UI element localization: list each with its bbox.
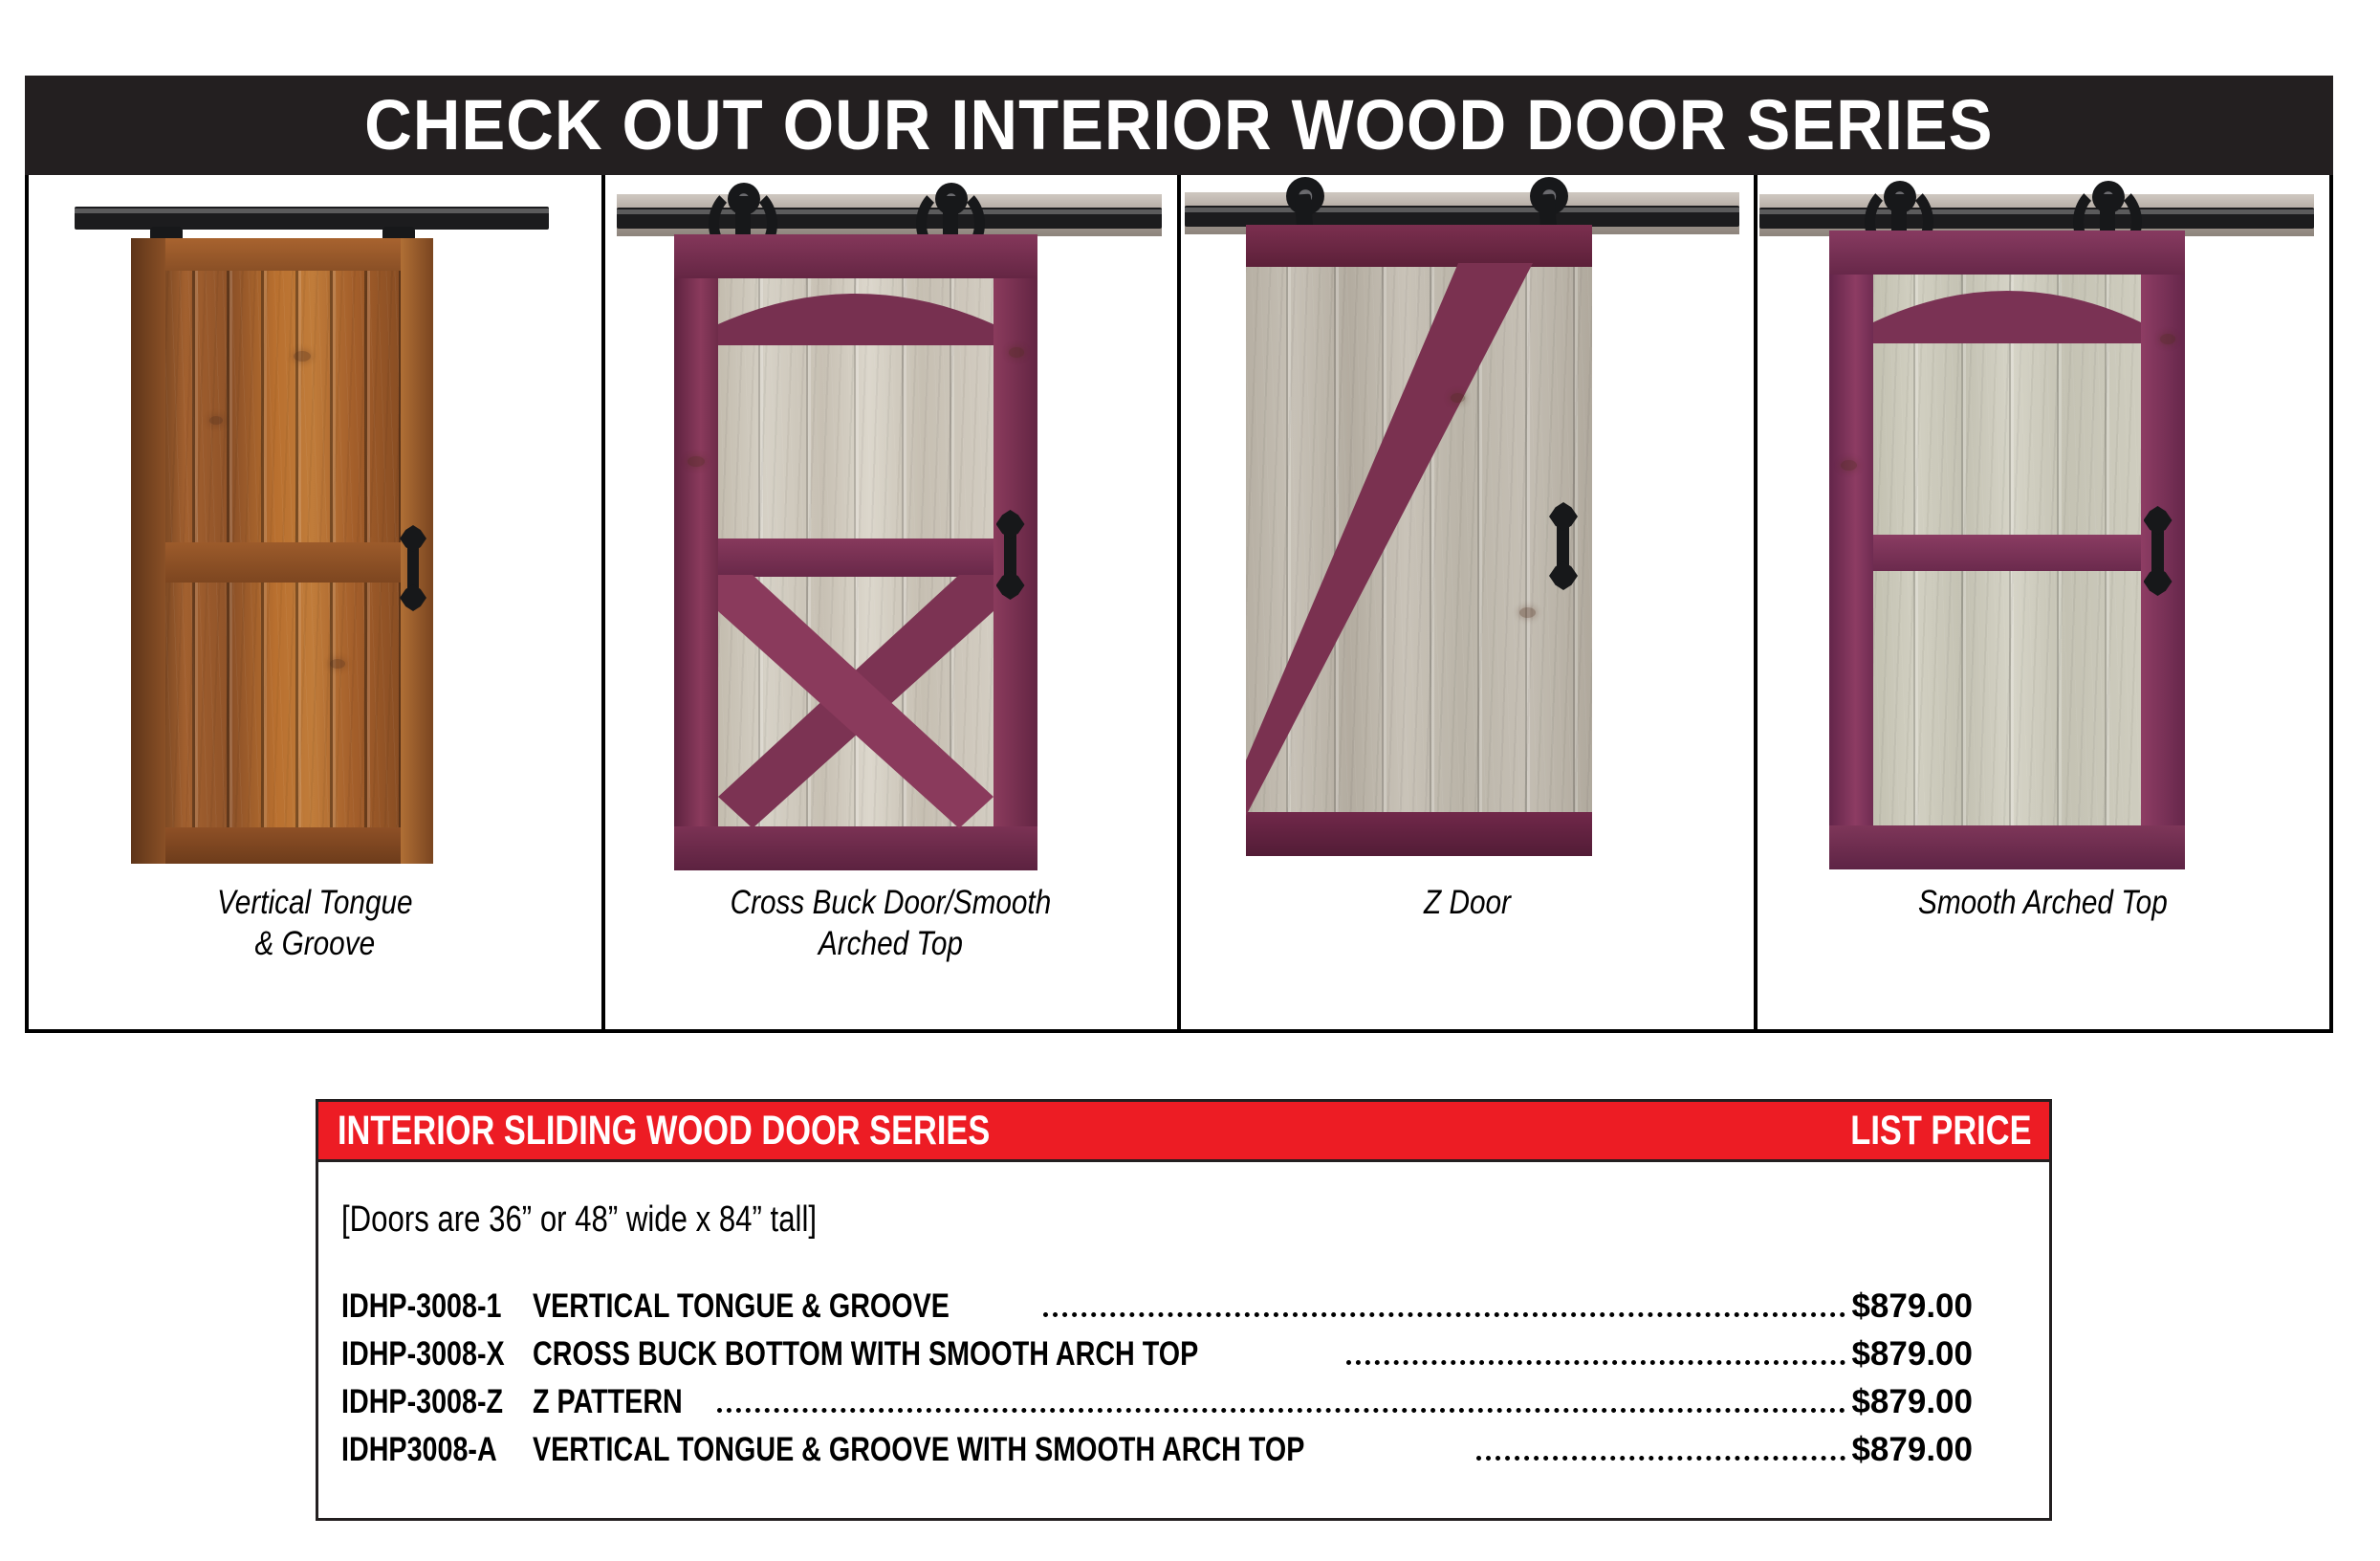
row-desc: CROSS BUCK BOTTOM WITH SMOOTH ARCH TOP: [533, 1330, 1198, 1378]
door-body-smooth-arched-top: [1829, 231, 2185, 869]
table-row[interactable]: IDHP-3008-1 VERTICAL TONGUE & GROOVE $87…: [341, 1283, 2049, 1330]
track-rail-icon: [617, 208, 1162, 229]
arch-top-shape: [1873, 273, 2141, 343]
row-desc: VERTICAL TONGUE & GROOVE: [533, 1283, 950, 1330]
row-price: $879.00: [1851, 1330, 2049, 1378]
table-row[interactable]: IDHP3008-A VERTICAL TONGUE & GROOVE WITH…: [341, 1426, 2049, 1474]
price-table-body: [Doors are 36” or 48” wide x 84” tall] I…: [316, 1162, 2052, 1521]
row-sku: IDHP3008-A: [341, 1426, 498, 1474]
door-image-z-door: [1181, 175, 1754, 878]
door-body-cross-buck: [674, 234, 1037, 870]
bottom-rail: [1246, 812, 1592, 856]
row-desc: Z PATTERN: [533, 1378, 683, 1426]
z-diagonal-brace: [1246, 263, 1592, 816]
row-price: $879.00: [1851, 1426, 2049, 1474]
arch-top-shape: [718, 276, 993, 345]
mid-rail: [1873, 535, 2141, 571]
door-caption: Smooth Arched Top: [1918, 882, 2168, 923]
door-panel-vertical-tongue-groove[interactable]: Vertical Tongue & Groove: [29, 175, 605, 1029]
price-table: INTERIOR SLIDING WOOD DOOR SERIES LIST P…: [316, 1099, 2052, 1521]
door-panel-smooth-arched-top[interactable]: Smooth Arched Top: [1758, 175, 2330, 1029]
header-banner: CHECK OUT OUR INTERIOR WOOD DOOR SERIES: [25, 76, 2333, 175]
dot-leader: [1476, 1456, 1846, 1461]
door-body-z-door: [1246, 225, 1592, 856]
top-rail: [1246, 225, 1592, 267]
track-rail-icon: [75, 207, 549, 230]
door-caption: Cross Buck Door/Smooth Arched Top: [731, 882, 1052, 964]
row-price: $879.00: [1851, 1283, 2049, 1330]
series-label: INTERIOR SLIDING WOOD DOOR SERIES: [338, 1110, 990, 1152]
cross-buck-brace: [718, 575, 993, 828]
table-row[interactable]: IDHP-3008-Z Z PATTERN $879.00: [341, 1378, 2049, 1426]
door-panel-z-door[interactable]: Z Door: [1181, 175, 1758, 1029]
row-price: $879.00: [1851, 1378, 2049, 1426]
door-gallery: Vertical Tongue & Groove: [25, 175, 2333, 1033]
door-image-vertical-tongue-groove: [29, 175, 601, 878]
door-body-vertical-tongue-groove: [131, 238, 433, 864]
mid-rail: [718, 539, 993, 577]
list-price-label: LIST PRICE: [1851, 1110, 2032, 1152]
door-caption: Vertical Tongue & Groove: [217, 882, 413, 964]
table-row[interactable]: IDHP-3008-X CROSS BUCK BOTTOM WITH SMOOT…: [341, 1330, 2049, 1378]
dot-leader: [1043, 1312, 1846, 1317]
dot-leader: [1346, 1360, 1845, 1365]
row-desc: VERTICAL TONGUE & GROOVE WITH SMOOTH ARC…: [533, 1426, 1304, 1474]
row-sku: IDHP-3008-1: [341, 1283, 498, 1330]
row-sku: IDHP-3008-X: [341, 1330, 498, 1378]
door-caption: Z Door: [1424, 882, 1511, 923]
page-title: CHECK OUT OUR INTERIOR WOOD DOOR SERIES: [364, 90, 1993, 161]
door-panel-cross-buck[interactable]: Cross Buck Door/Smooth Arched Top: [605, 175, 1182, 1029]
door-image-cross-buck: [605, 175, 1178, 878]
row-sku: IDHP-3008-Z: [341, 1378, 498, 1426]
price-table-header: INTERIOR SLIDING WOOD DOOR SERIES LIST P…: [316, 1099, 2052, 1162]
track-rail-icon: [1759, 208, 2314, 229]
door-image-smooth-arched-top: [1758, 175, 2330, 878]
track-rail-icon: [1185, 206, 1739, 227]
size-note: [Doors are 36” or 48” wide x 84” tall]: [341, 1198, 1742, 1241]
dot-leader: [717, 1408, 1845, 1413]
